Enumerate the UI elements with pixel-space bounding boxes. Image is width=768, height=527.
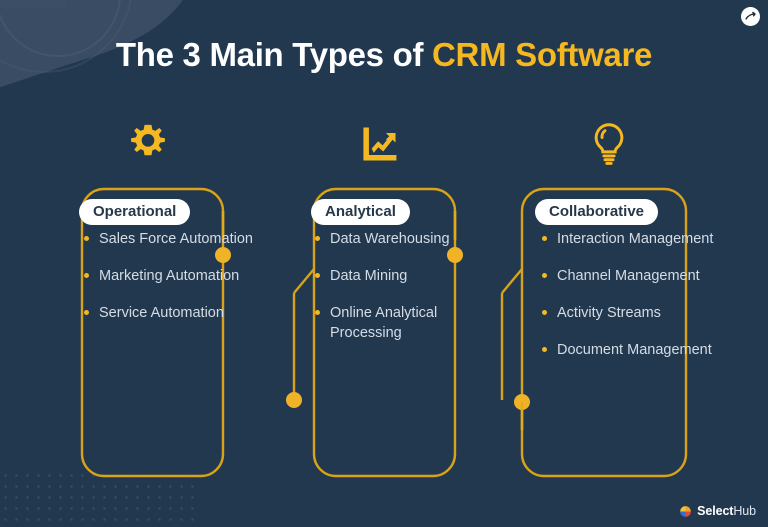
list-item: Data Mining [314,266,494,286]
selecthub-logo[interactable]: SelectHub [679,504,756,518]
logo-name-bold: Select [697,504,733,518]
list-item: Service Automation [83,303,258,323]
pinterest-save-icon[interactable] [741,7,760,26]
selecthub-wordmark: SelectHub [697,504,756,518]
type-card-analytical[interactable]: Analytical Data Warehousing Data Mining … [256,0,502,527]
feature-list-collaborative: Interaction Management Channel Managemen… [541,229,726,377]
type-card-collaborative[interactable]: Collaborative Interaction Management Cha… [486,0,732,527]
list-item: Data Warehousing [314,229,494,249]
logo-name-light: Hub [733,504,756,518]
selecthub-mark-icon [679,505,692,518]
list-item: Activity Streams [541,303,726,323]
card-label-operational: Operational [79,199,190,225]
card-label-analytical: Analytical [311,199,410,225]
feature-list-operational: Sales Force Automation Marketing Automat… [83,229,258,340]
list-item: Channel Management [541,266,726,286]
list-item: Document Management [541,340,726,360]
infographic-canvas: The 3 Main Types of CRM Software Operati… [0,0,768,527]
type-card-operational[interactable]: Operational Sales Force Automation Marke… [25,0,271,527]
list-item: Interaction Management [541,229,726,249]
list-item: Sales Force Automation [83,229,258,249]
feature-list-analytical: Data Warehousing Data Mining Online Anal… [314,229,494,360]
list-item: Online Analytical Processing [314,303,494,343]
list-item: Marketing Automation [83,266,258,286]
card-label-collaborative: Collaborative [535,199,658,225]
